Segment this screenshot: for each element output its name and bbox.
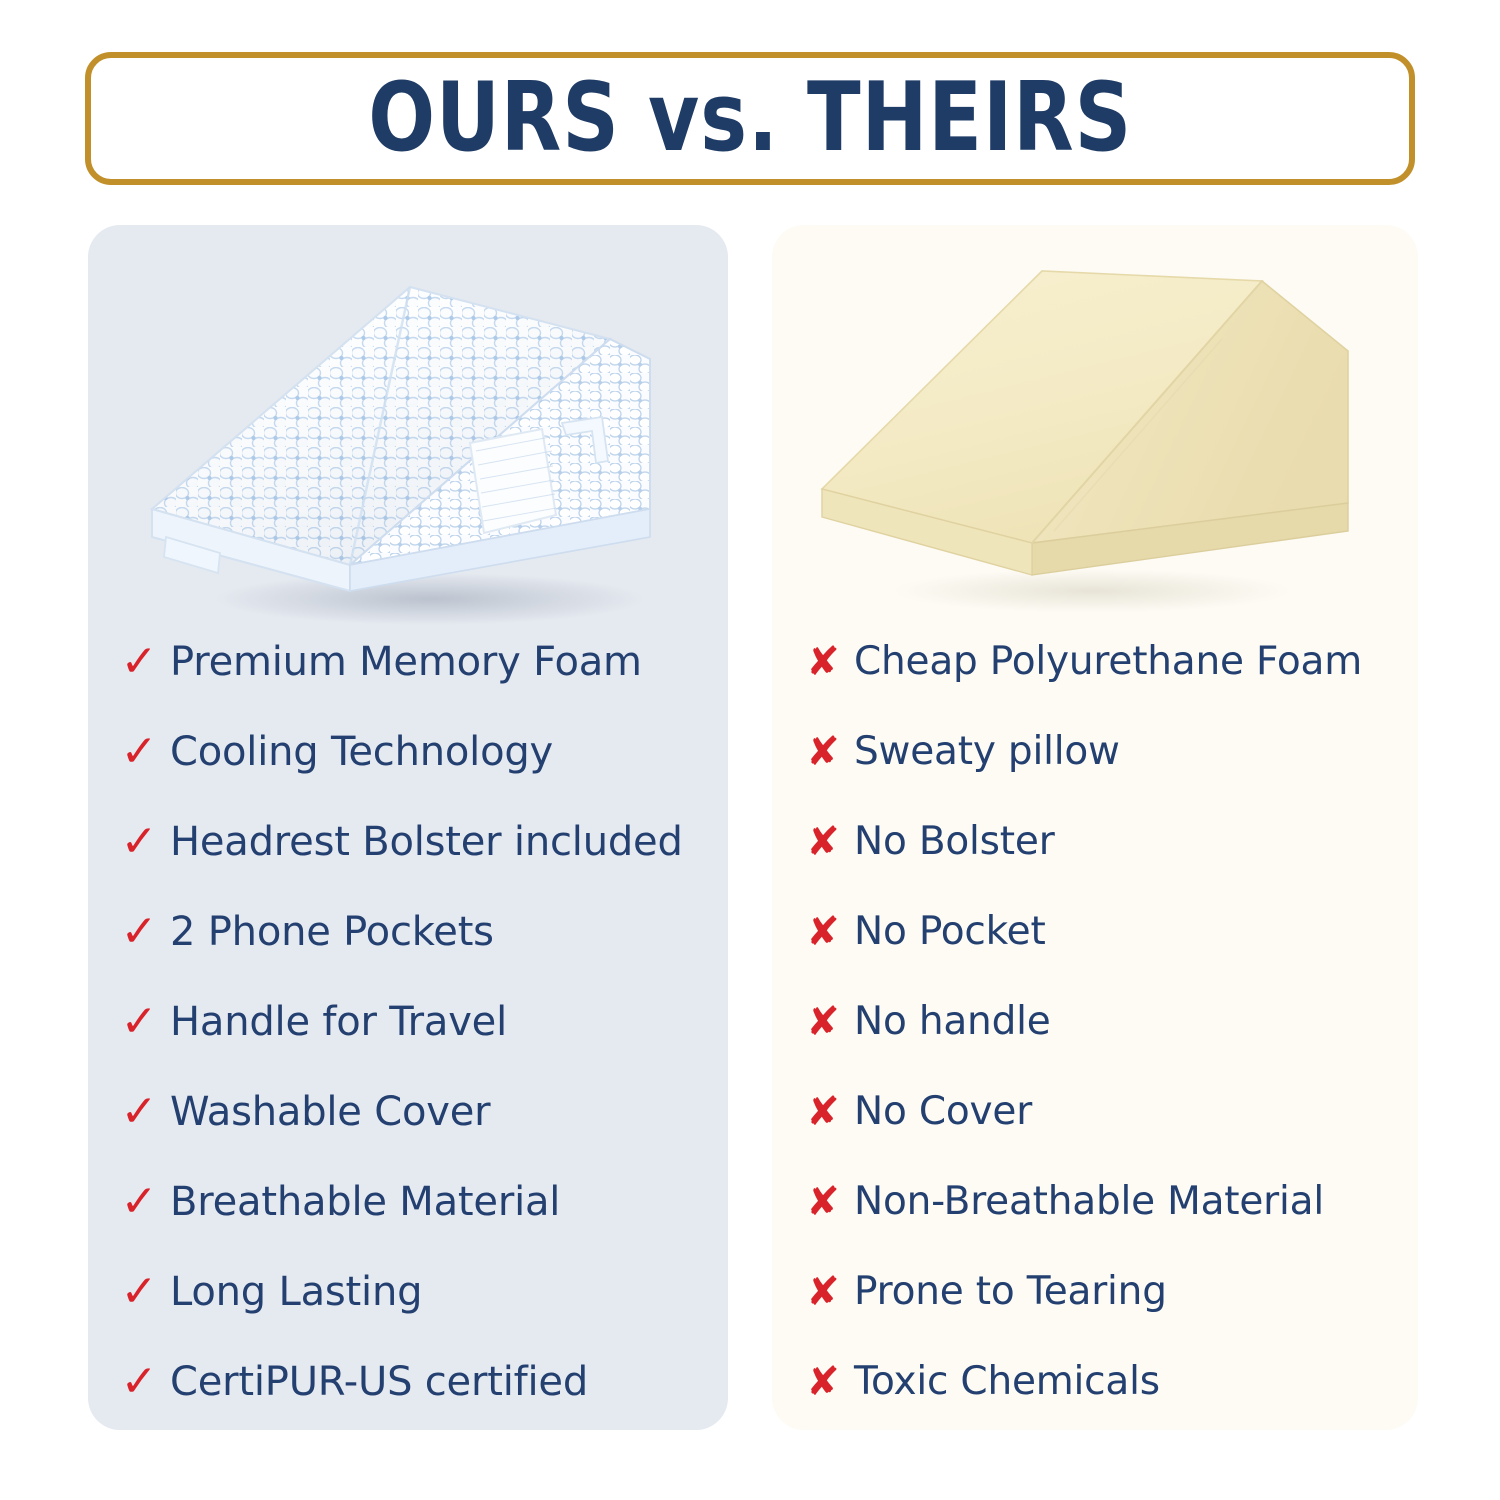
feature-label: Prone to Tearing <box>854 1272 1167 1313</box>
product-image-ours <box>110 247 690 637</box>
cross-icon: ✘ <box>802 1272 844 1312</box>
feature-label: CertiPUR-US certified <box>170 1361 588 1403</box>
feature-list-ours: ✓ Premium Memory Foam ✓ Cooling Technolo… <box>88 617 728 1427</box>
feature-label: No Cover <box>854 1092 1032 1133</box>
cross-icon: ✘ <box>802 1002 844 1042</box>
feature-row: ✓ Cooling Technology <box>88 707 728 797</box>
product-image-theirs-stage <box>772 225 1418 625</box>
feature-row: ✘ Cheap Polyurethane Foam <box>772 617 1418 707</box>
feature-row: ✘ No Pocket <box>772 887 1418 977</box>
feature-label: Long Lasting <box>170 1271 422 1313</box>
feature-label: Toxic Chemicals <box>854 1362 1160 1403</box>
feature-label: Headrest Bolster included <box>170 821 683 863</box>
feature-row: ✘ Non-Breathable Material <box>772 1157 1418 1247</box>
feature-label: No Pocket <box>854 912 1046 953</box>
check-icon: ✓ <box>118 1090 160 1134</box>
feature-label: Handle for Travel <box>170 1001 507 1043</box>
product-image-theirs <box>792 243 1402 633</box>
feature-row: ✓ Premium Memory Foam <box>88 617 728 707</box>
feature-row: ✓ Long Lasting <box>88 1247 728 1337</box>
feature-row: ✘ Sweaty pillow <box>772 707 1418 797</box>
feature-row: ✓ Washable Cover <box>88 1067 728 1157</box>
feature-list-theirs: ✘ Cheap Polyurethane Foam ✘ Sweaty pillo… <box>772 617 1418 1427</box>
feature-row: ✓ Breathable Material <box>88 1157 728 1247</box>
cross-icon: ✘ <box>802 912 844 952</box>
feature-label: Non-Breathable Material <box>854 1182 1324 1223</box>
check-icon: ✓ <box>118 820 160 864</box>
feature-row: ✘ Prone to Tearing <box>772 1247 1418 1337</box>
check-icon: ✓ <box>118 640 160 684</box>
feature-row: ✓ 2 Phone Pockets <box>88 887 728 977</box>
cross-icon: ✘ <box>802 732 844 772</box>
cross-icon: ✘ <box>802 1362 844 1402</box>
cross-icon: ✘ <box>802 642 844 682</box>
feature-label: Breathable Material <box>170 1181 560 1223</box>
check-icon: ✓ <box>118 910 160 954</box>
feature-row: ✘ No Bolster <box>772 797 1418 887</box>
comparison-panel-theirs: ✘ Cheap Polyurethane Foam ✘ Sweaty pillo… <box>772 225 1418 1430</box>
feature-row: ✘ No Cover <box>772 1067 1418 1157</box>
check-icon: ✓ <box>118 1000 160 1044</box>
check-icon: ✓ <box>118 1180 160 1224</box>
feature-row: ✓ Handle for Travel <box>88 977 728 1067</box>
cross-icon: ✘ <box>802 822 844 862</box>
check-icon: ✓ <box>118 1270 160 1314</box>
feature-label: No handle <box>854 1002 1051 1043</box>
product-image-ours-stage <box>88 225 728 625</box>
cross-icon: ✘ <box>802 1182 844 1222</box>
feature-label: Cheap Polyurethane Foam <box>854 642 1362 683</box>
feature-row: ✘ Toxic Chemicals <box>772 1337 1418 1427</box>
feature-label: Premium Memory Foam <box>170 641 642 683</box>
page-title-banner: OURS vs. THEIRS <box>85 52 1415 185</box>
page-title: OURS vs. THEIRS <box>368 71 1132 166</box>
feature-row: ✓ Headrest Bolster included <box>88 797 728 887</box>
feature-row: ✘ No handle <box>772 977 1418 1067</box>
comparison-panel-ours: ✓ Premium Memory Foam ✓ Cooling Technolo… <box>88 225 728 1430</box>
feature-row: ✓ CertiPUR-US certified <box>88 1337 728 1427</box>
cross-icon: ✘ <box>802 1092 844 1132</box>
feature-label: No Bolster <box>854 822 1055 863</box>
feature-label: Sweaty pillow <box>854 732 1120 773</box>
feature-label: Washable Cover <box>170 1091 490 1133</box>
check-icon: ✓ <box>118 1360 160 1404</box>
feature-label: 2 Phone Pockets <box>170 911 494 953</box>
feature-label: Cooling Technology <box>170 731 553 773</box>
check-icon: ✓ <box>118 730 160 774</box>
